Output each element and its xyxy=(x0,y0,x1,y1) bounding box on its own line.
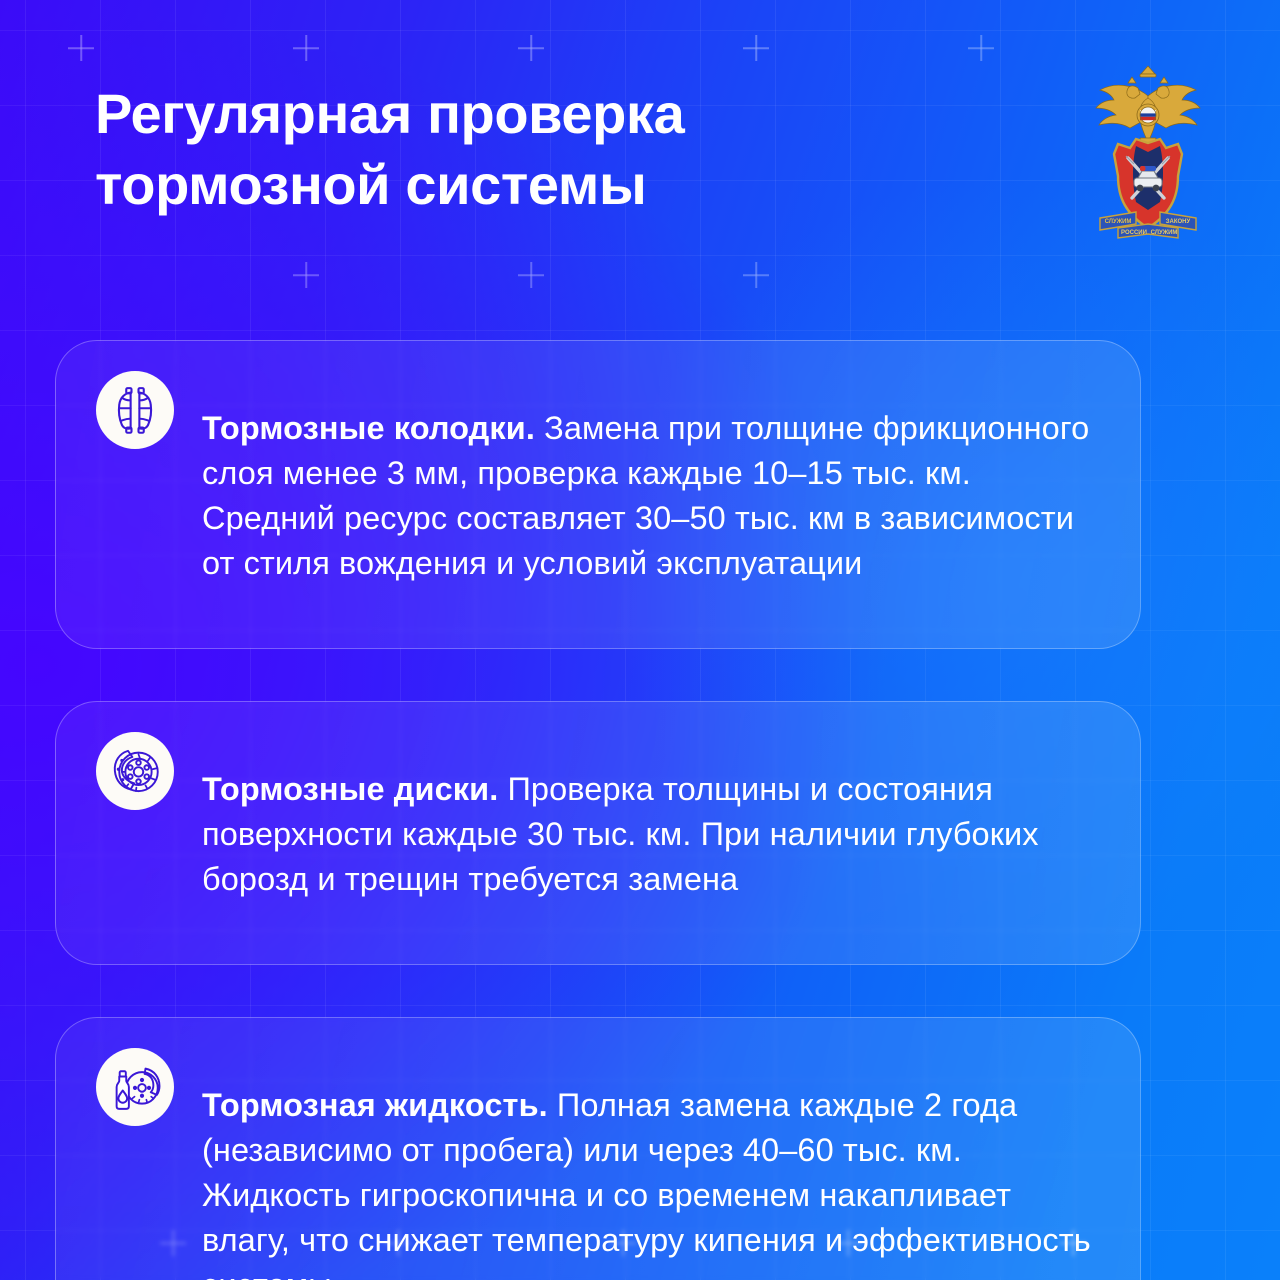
card-brake-fluid: Тормозная жидкость. Полная замена каждые… xyxy=(55,1017,1141,1280)
brake-fluid-icon xyxy=(96,1048,174,1126)
emblem-motto-center-right: СЛУЖИМ xyxy=(1151,230,1178,236)
page-title-line-1: Регулярная проверка xyxy=(95,78,925,149)
crosshair-mark xyxy=(968,35,994,61)
crosshair-mark xyxy=(293,35,319,61)
crosshair-mark xyxy=(68,35,94,61)
card-text: Тормозные диски. Проверка толщины и сост… xyxy=(202,761,1106,902)
card-text: Тормозная жидкость. Полная замена каждые… xyxy=(202,1077,1106,1280)
crosshair-mark xyxy=(743,262,769,288)
emblem-motto-right: ЗАКОНУ xyxy=(1166,219,1191,225)
page-title-line-2: тормозной системы xyxy=(95,149,925,220)
poster-root: Регулярная проверка тормозной системы xyxy=(0,0,1280,1280)
page-title: Регулярная проверка тормозной системы xyxy=(95,78,925,220)
emblem-motto-center-left: РОССИИ xyxy=(1121,230,1147,236)
emblem-motto-left: СЛУЖИМ xyxy=(1105,219,1132,225)
crosshair-mark xyxy=(743,35,769,61)
mvd-russia-emblem: СЛУЖИМ СЛУЖИМ ЗАКОНУ РОССИИ СЛУЖИМ xyxy=(1078,58,1218,243)
crosshair-mark xyxy=(518,35,544,61)
brake-disc-icon xyxy=(96,732,174,810)
card-lead: Тормозные колодки. xyxy=(202,410,535,446)
crosshair-mark xyxy=(518,262,544,288)
card-brake-pads: Тормозные колодки. Замена при толщине фр… xyxy=(55,340,1141,649)
card-lead: Тормозные диски. xyxy=(202,771,498,807)
card-text: Тормозные колодки. Замена при толщине фр… xyxy=(202,400,1106,586)
cards-list: Тормозные колодки. Замена при толщине фр… xyxy=(55,340,1141,1280)
brake-pads-icon xyxy=(96,371,174,449)
card-brake-discs: Тормозные диски. Проверка толщины и сост… xyxy=(55,701,1141,965)
card-lead: Тормозная жидкость. xyxy=(202,1087,548,1123)
crosshair-mark xyxy=(293,262,319,288)
